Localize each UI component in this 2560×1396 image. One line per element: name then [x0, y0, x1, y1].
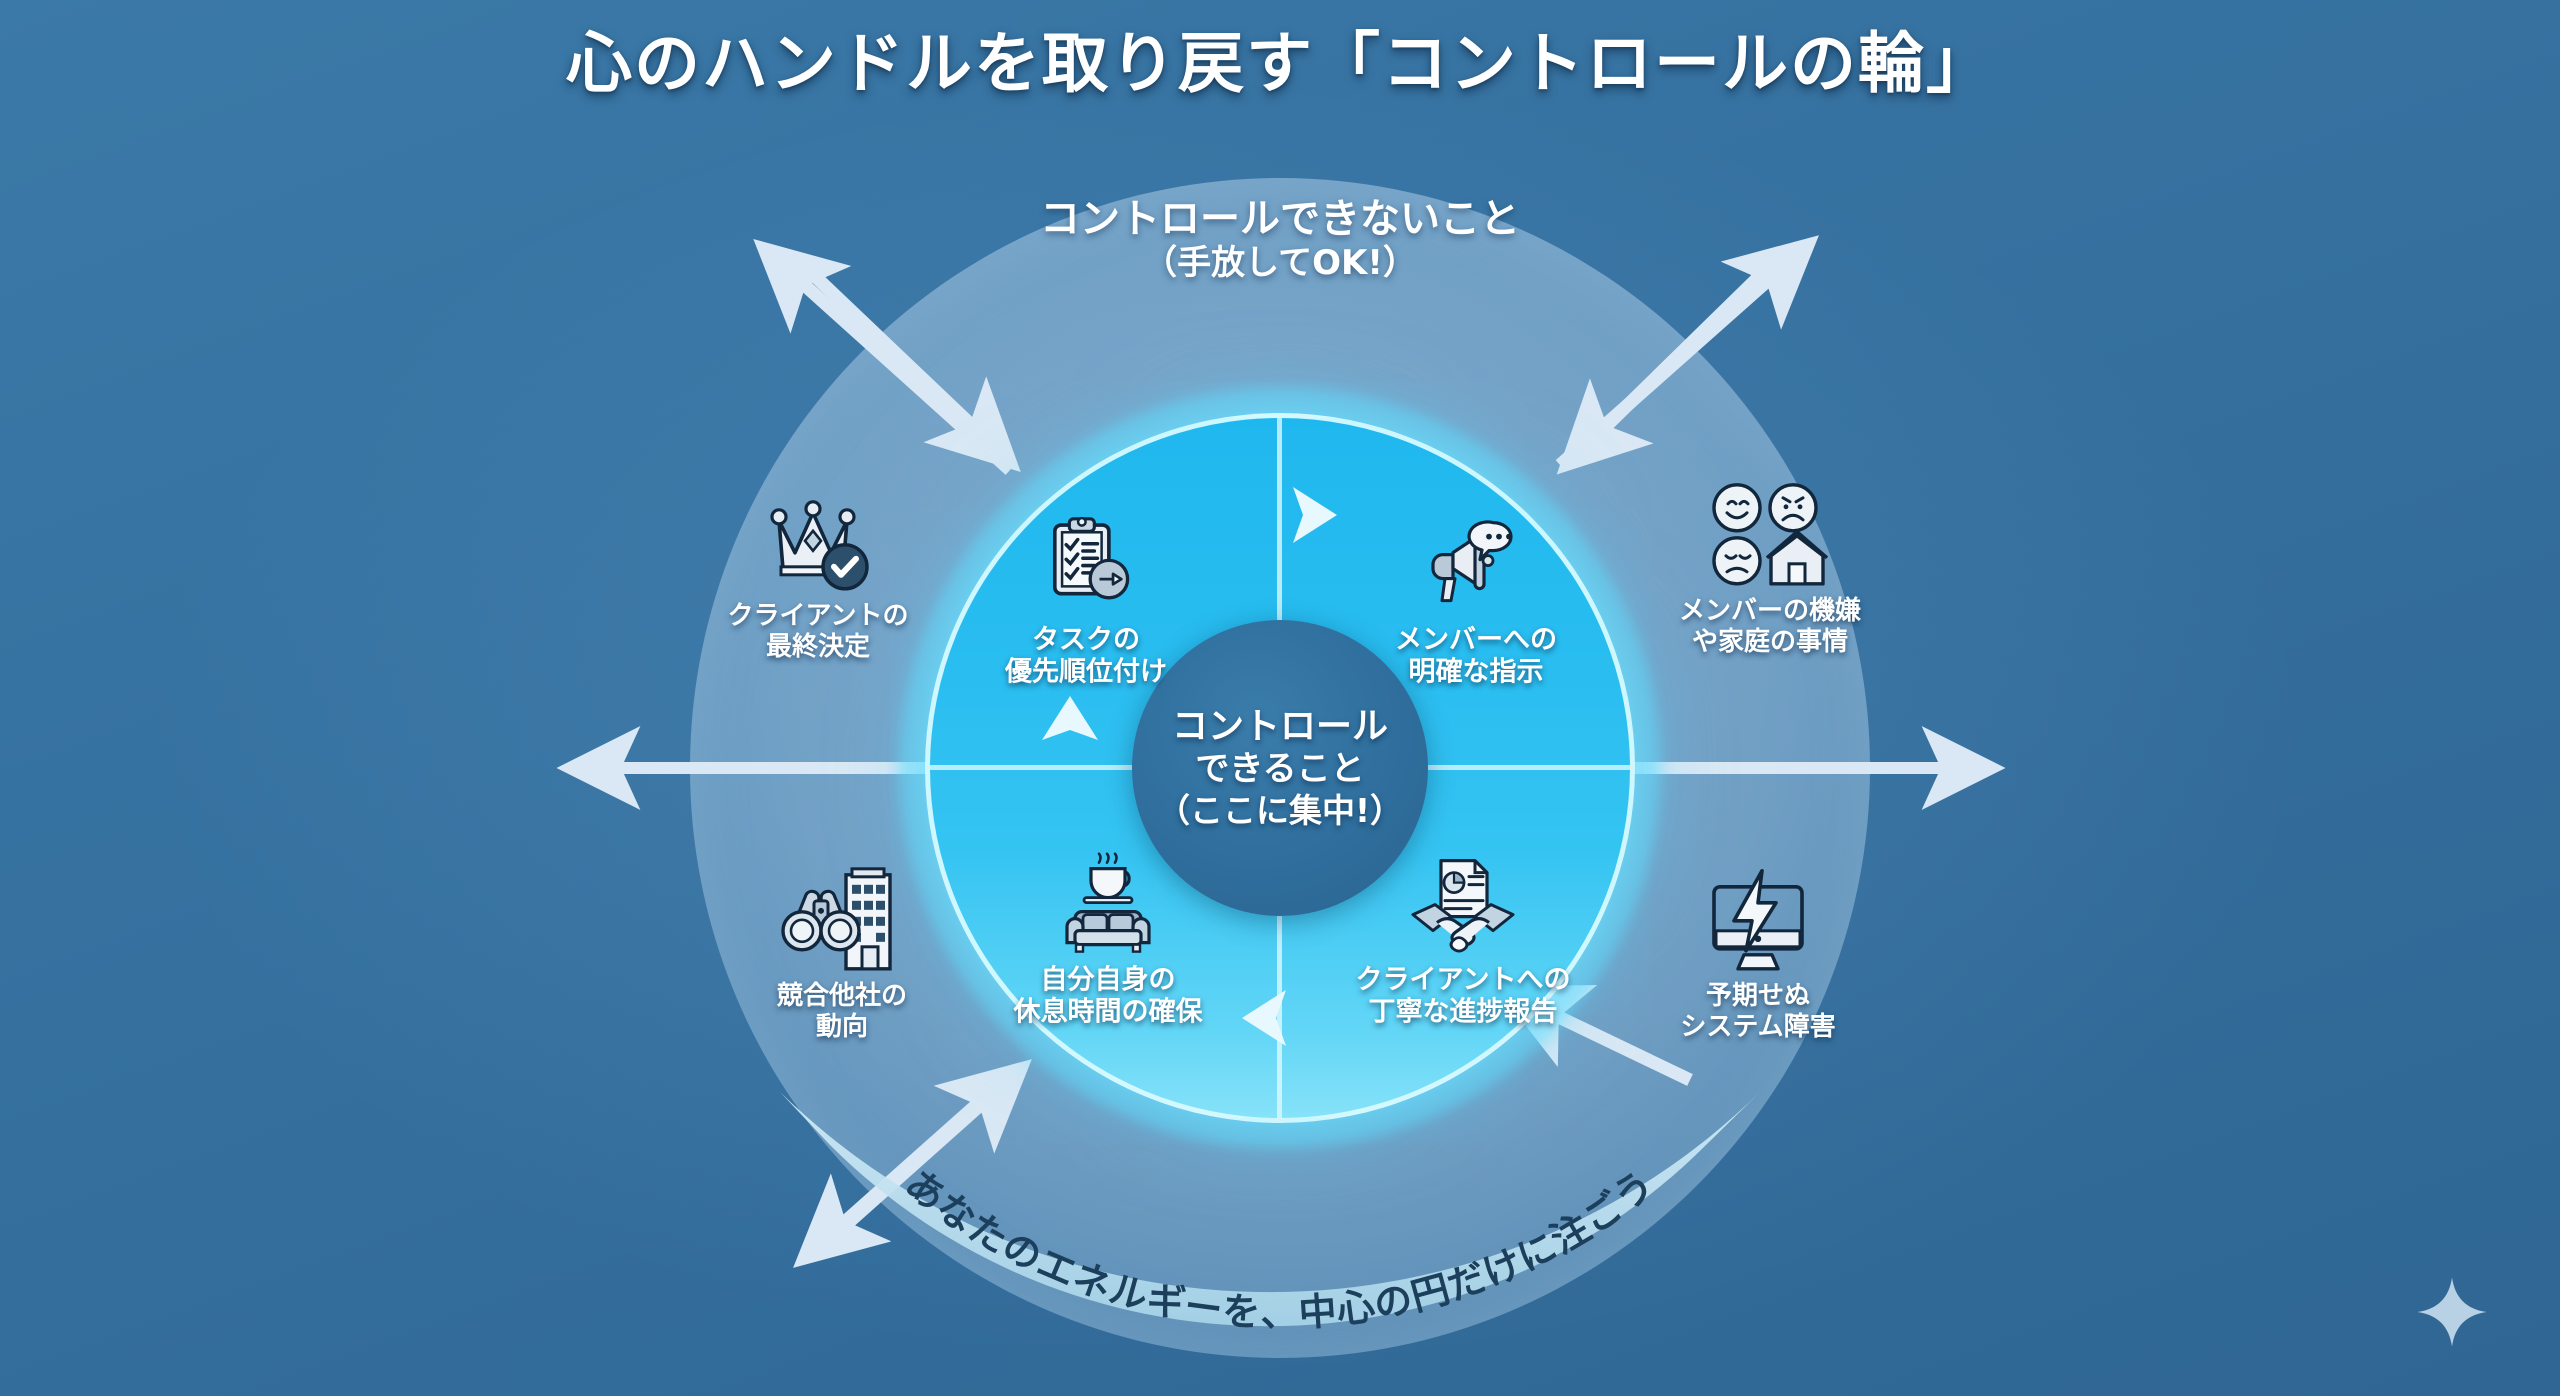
inner-item-rest: 自分自身の 休息時間の確保: [983, 851, 1233, 1030]
outer-item-competitor-line1: 競合他社の: [717, 981, 967, 1012]
faces-house-icon: [1645, 482, 1895, 590]
inner-item-instruction-line1: メンバーへの: [1351, 625, 1601, 657]
infographic-canvas: 心のハンドルを取り戻す「コントロールの輪」 コントロールできないこと （手放して…: [0, 0, 2560, 1396]
inner-item-rest-line1: 自分自身の: [983, 965, 1233, 997]
clipboard-checklist-arrow-icon: [961, 511, 1211, 619]
monitor-lightning-bolt-icon: [1633, 867, 1883, 975]
inner-item-priority-line1: タスクの: [961, 625, 1211, 657]
inner-item-rest-line2: 休息時間の確保: [983, 997, 1233, 1029]
handshake-report-document-icon: [1338, 851, 1588, 959]
inner-item-report: クライアントへの 丁寧な進捗報告: [1338, 851, 1588, 1030]
outer-item-system-failure: 予期せぬ システム障害: [1633, 867, 1883, 1043]
megaphone-speech-bubble-icon: [1351, 511, 1601, 619]
outer-item-competitor-trends: 競合他社の 動向: [717, 867, 967, 1043]
inner-item-priority: タスクの 優先順位付け: [961, 511, 1211, 690]
center-label-line2: できること: [1157, 749, 1403, 790]
outer-ring-label: コントロールできないこと （手放してOK!）: [1040, 196, 1520, 283]
inner-item-priority-line2: 優先順位付け: [961, 657, 1211, 689]
page-title: 心のハンドルを取り戻す「コントロールの輪」: [0, 10, 2560, 106]
outer-item-mood-line2: や家庭の事情: [1645, 627, 1895, 658]
outer-item-system-line1: 予期せぬ: [1633, 981, 1883, 1012]
outer-item-client-decision: クライアントの 最終決定: [693, 487, 943, 663]
inner-item-instruction: メンバーへの 明確な指示: [1351, 511, 1601, 690]
outer-item-mood-line1: メンバーの機嫌: [1645, 596, 1895, 627]
sofa-coffee-cup-icon: [983, 851, 1233, 959]
outer-item-client-line1: クライアントの: [693, 601, 943, 632]
outer-item-client-line2: 最終決定: [693, 632, 943, 663]
inner-item-report-line1: クライアントへの: [1338, 965, 1588, 997]
crown-check-icon: [693, 487, 943, 595]
binoculars-building-icon: [717, 867, 967, 975]
inner-item-instruction-line2: 明確な指示: [1351, 657, 1601, 689]
outer-item-member-mood: メンバーの機嫌 や家庭の事情: [1645, 482, 1895, 658]
center-label-line1: コントロール: [1157, 705, 1403, 749]
center-label: コントロール できること （ここに集中!）: [1157, 705, 1403, 831]
four-point-sparkle-icon: [2416, 1276, 2488, 1348]
outer-item-system-line2: システム障害: [1633, 1012, 1883, 1043]
outer-ring-label-line2: （手放してOK!）: [1040, 243, 1520, 283]
outer-ring-label-line1: コントロールできないこと: [1040, 196, 1520, 243]
inner-item-report-line2: 丁寧な進捗報告: [1338, 997, 1588, 1029]
outer-item-competitor-line2: 動向: [717, 1012, 967, 1043]
center-label-line3: （ここに集中!）: [1157, 791, 1403, 831]
